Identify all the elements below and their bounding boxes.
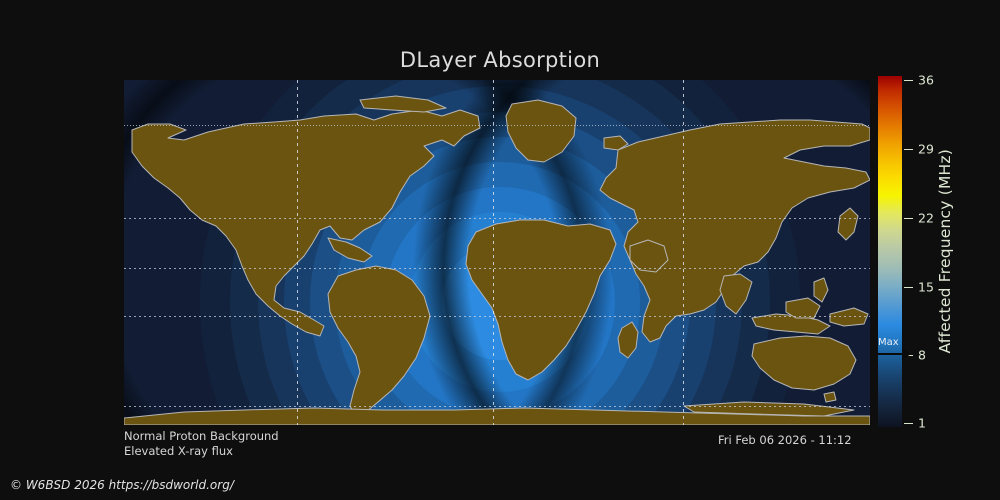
land-arctic-islands [360, 96, 446, 112]
max-marker-label: Max [878, 337, 899, 348]
gridline-lat-arctic [124, 125, 870, 126]
world-landmass-layer [124, 80, 870, 425]
colorbar-label-1: 1 [918, 416, 926, 431]
colorbar-max-marker: Max [876, 337, 918, 363]
colorbar-label-29: 29 [918, 142, 934, 157]
page-title: DLayer Absorption [0, 48, 1000, 72]
colorbar-axis-title-text: Affected Frequency (MHz) [936, 149, 954, 353]
colorbar-label-15: 15 [918, 280, 934, 295]
colorbar-label-36: 36 [918, 73, 934, 88]
colorbar-axis-title: Affected Frequency (MHz) [934, 76, 956, 427]
timestamp: Fri Feb 06 2026 - 11:12 [718, 433, 852, 447]
land-south-america [328, 266, 430, 416]
land-philippines [814, 278, 828, 302]
gridline-lon-east90 [683, 80, 684, 425]
colorbar-tick-22 [904, 218, 913, 219]
colorbar-tick-36 [904, 80, 913, 81]
land-japan [838, 208, 858, 240]
land-madagascar [618, 322, 638, 358]
status-block: Normal Proton Background Elevated X-ray … [124, 429, 279, 459]
status-proton-background: Normal Proton Background [124, 429, 279, 444]
copyright-footer: © W6BSD 2026 https://bsdworld.org/ [10, 478, 234, 492]
land-central-america [328, 238, 372, 262]
gridline-lat-cancer [124, 218, 870, 219]
max-arrow-shaft [878, 353, 904, 355]
max-arrow-head-icon [902, 348, 911, 360]
colorbar-tick-1 [904, 423, 913, 424]
colorbar-label-22: 22 [918, 211, 934, 226]
land-greenland [506, 100, 576, 162]
land-newguinea [830, 308, 868, 326]
map-plot-area[interactable] [124, 80, 870, 425]
land-north-america [132, 110, 480, 336]
land-indonesia [752, 314, 830, 334]
land-australia [752, 336, 856, 390]
gridline-lon-west90 [297, 80, 298, 425]
gridline-lat-equator [124, 268, 870, 269]
colorbar-tick-15 [904, 287, 913, 288]
status-xray-flux: Elevated X-ray flux [124, 444, 279, 459]
colorbar-tick-29 [904, 149, 913, 150]
land-india [720, 274, 752, 314]
land-borneo [786, 298, 820, 318]
gridline-lon-prime [493, 80, 494, 425]
gridline-lat-capricorn [124, 316, 870, 317]
land-tasmania [824, 392, 836, 402]
gridline-lat-antarctic [124, 406, 870, 407]
land-africa [466, 220, 616, 380]
colorbar-label-8: 8 [918, 348, 926, 363]
colorbar-gradient[interactable] [878, 76, 902, 427]
